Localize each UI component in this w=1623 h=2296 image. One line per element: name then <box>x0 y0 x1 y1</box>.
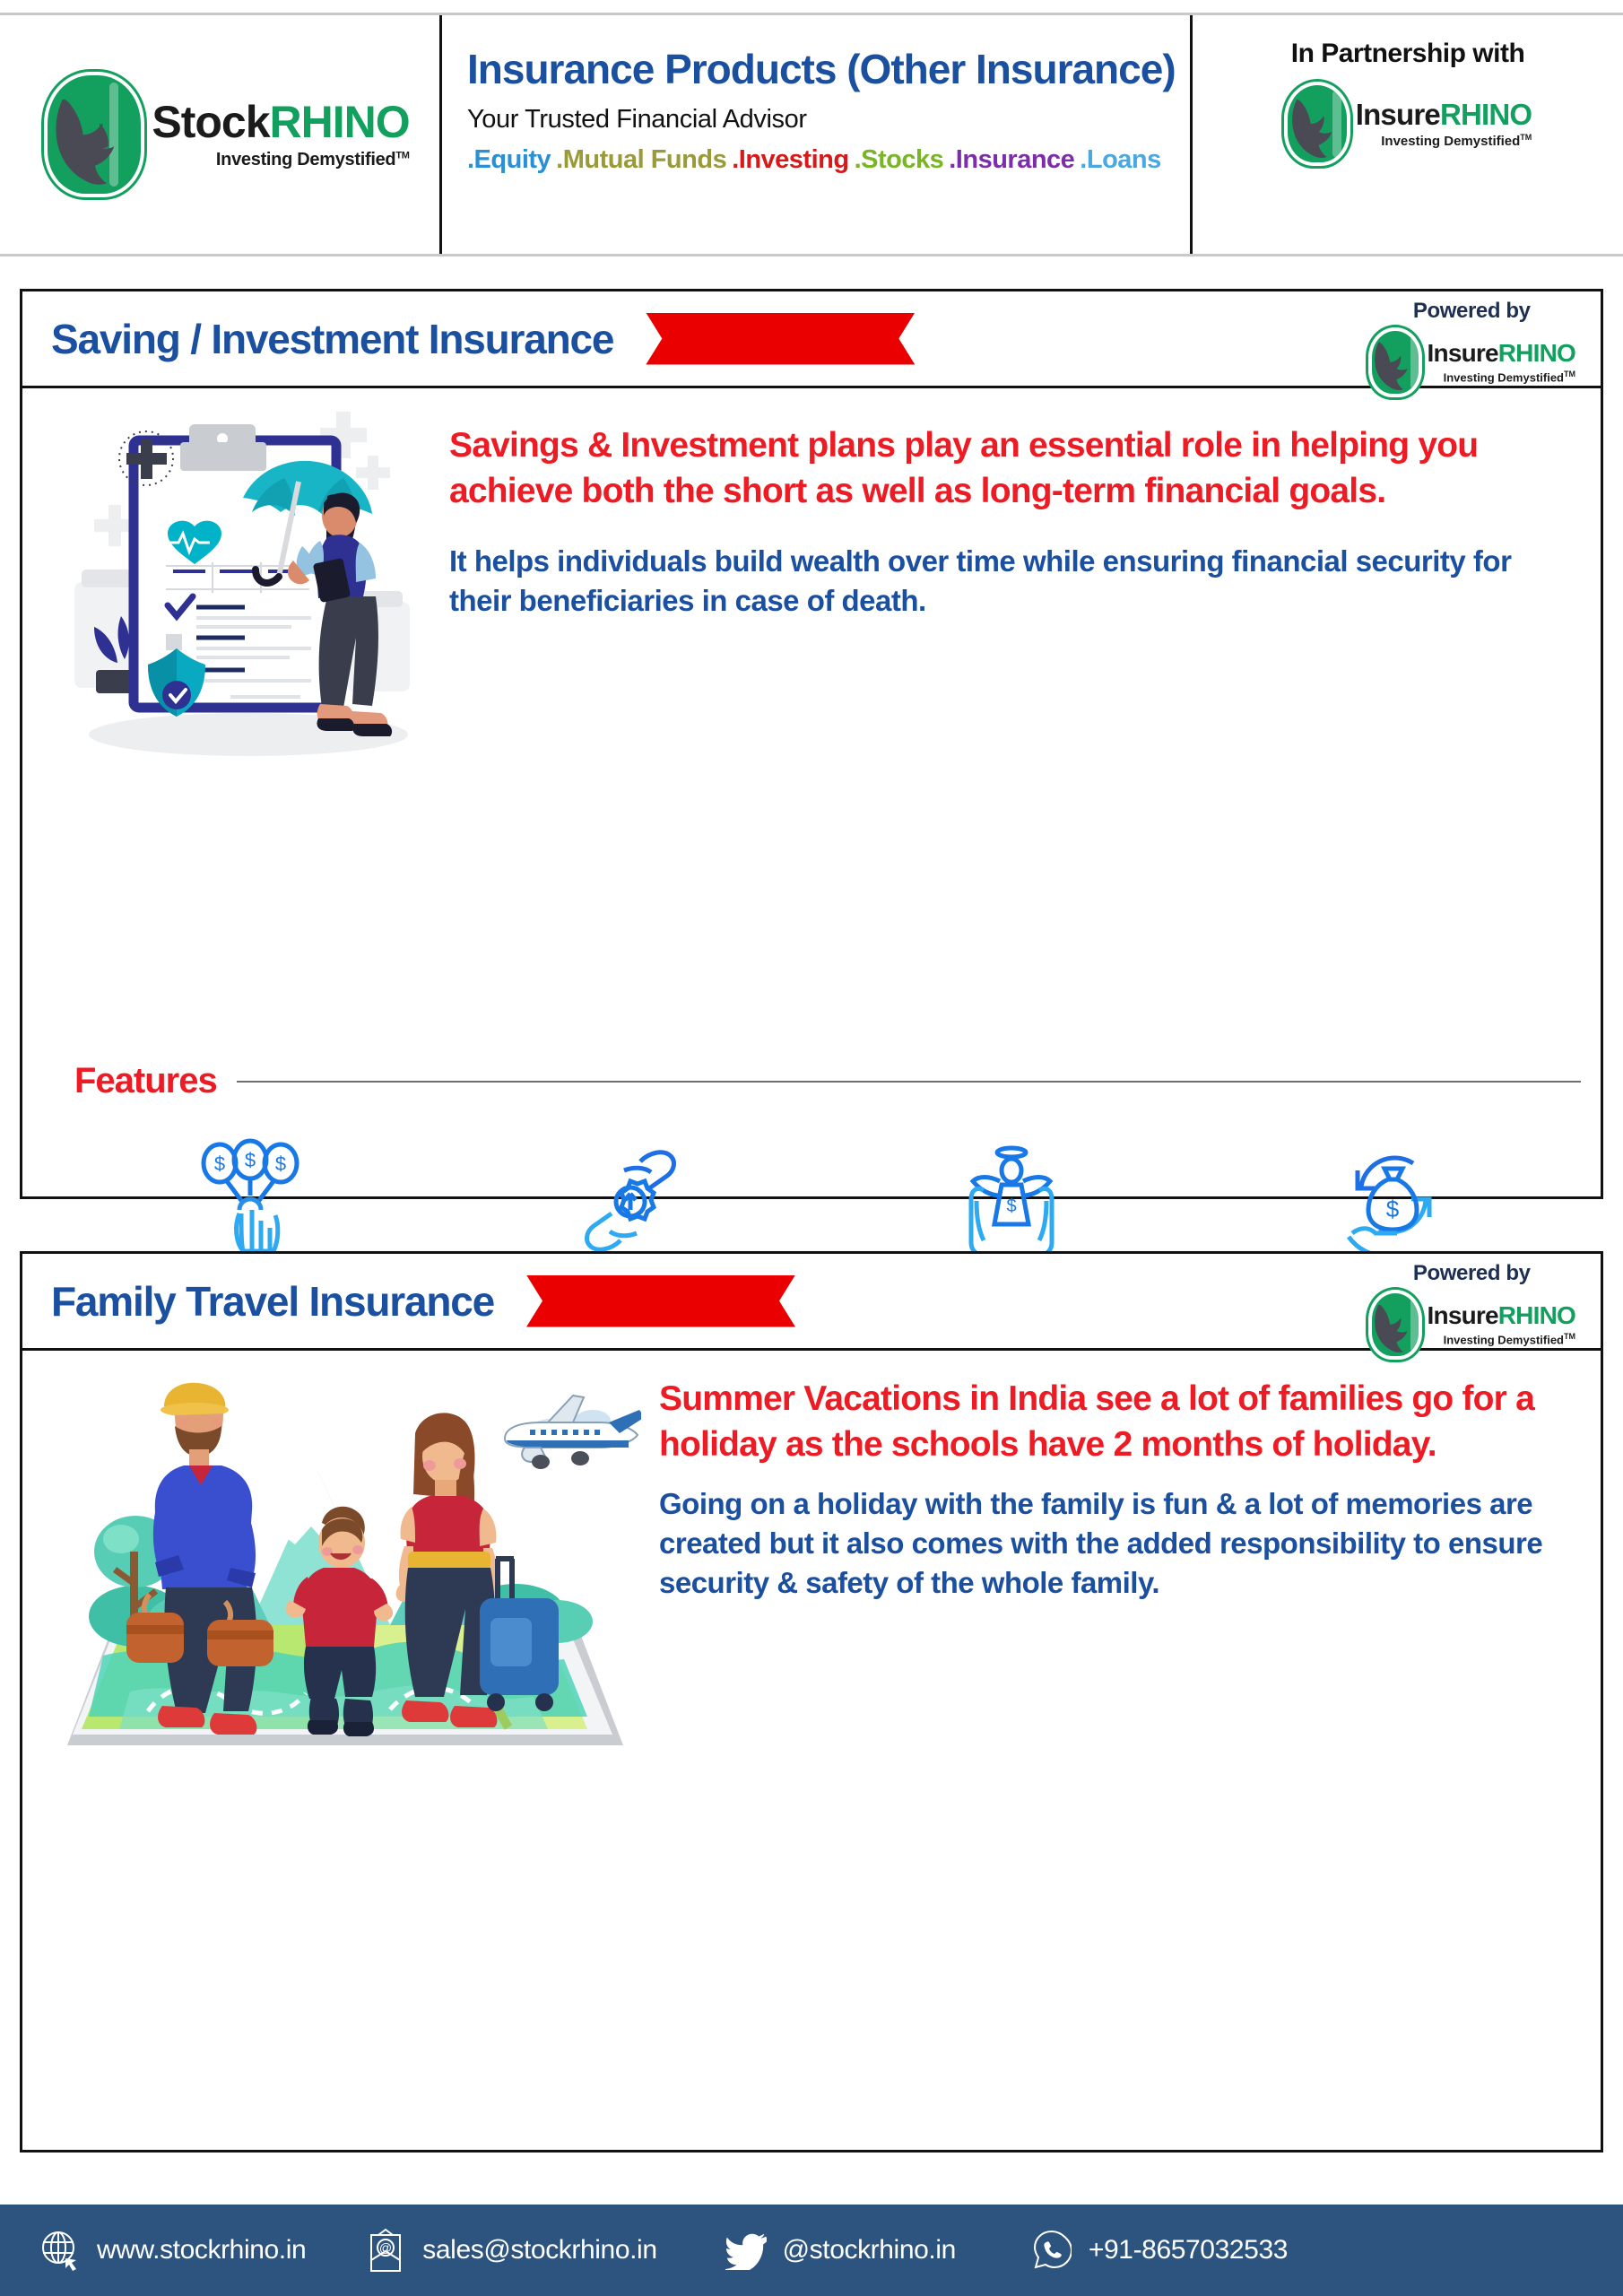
page-title: Insurance Products (Other Insurance) <box>467 48 1190 91</box>
divider <box>237 1081 1581 1083</box>
brand-name-accent: RHINO <box>270 97 410 147</box>
powered-wordmark: InsureRHINO <box>1428 341 1575 366</box>
powered-tagline: Investing DemystifiedTM <box>1444 1332 1575 1346</box>
service-tag-loans: .Loans <box>1080 145 1160 174</box>
section-title: Family Travel Insurance <box>51 1277 494 1326</box>
service-tag-investing: .Investing <box>732 145 848 174</box>
partnership-label: In Partnership with <box>1291 39 1525 69</box>
service-tag-equity: .Equity <box>467 145 551 174</box>
service-tag-stocks: .Stocks <box>855 145 944 174</box>
insurance-clipboard-umbrella-illustration <box>58 403 426 761</box>
brand-name-dark: Stock <box>152 97 269 147</box>
section-header: Family Travel Insurance Powered by Insur… <box>22 1254 1601 1351</box>
page-header: StockRHINO Investing DemystifiedTM Insur… <box>0 13 1623 257</box>
powered-by-block: Powered by InsureRHINO Investing Demysti… <box>1368 299 1575 397</box>
brand-tagline: Investing DemystifiedTM <box>216 150 410 170</box>
section-card-saving-investment: Saving / Investment Insurance Powered by… <box>20 289 1603 1199</box>
section-copy: Savings & Investment plans play an essen… <box>449 422 1561 621</box>
rhino-shield-icon <box>44 72 144 197</box>
powered-wordmark: InsureRHINO <box>1428 1303 1575 1328</box>
footer-twitter-text: @stockrhino.in <box>783 2235 956 2266</box>
powered-by-label: Powered by <box>1413 1261 1531 1286</box>
globe-icon <box>39 2229 81 2272</box>
rhino-shield-icon <box>1284 82 1350 166</box>
svg-text:$: $ <box>1006 1196 1016 1216</box>
rhino-glyph-icon <box>1371 338 1412 392</box>
section-copy: Summer Vacations in India see a lot of f… <box>659 1376 1574 1604</box>
partnership-block: In Partnership with InsureRHINO Investin… <box>1193 15 1623 254</box>
rhino-shield-icon <box>1368 1290 1422 1360</box>
infographic-page: StockRHINO Investing DemystifiedTM Insur… <box>0 0 1623 2296</box>
section-title: Saving / Investment Insurance <box>51 315 613 363</box>
header-title-block: Insurance Products (Other Insurance) You… <box>439 15 1193 254</box>
family-travel-map-airplane-illustration <box>49 1360 641 1754</box>
powered-by-block: Powered by InsureRHINO Investing Demysti… <box>1368 1261 1575 1360</box>
svg-text:$: $ <box>274 1152 285 1175</box>
section-lead-text: Savings & Investment plans play an essen… <box>449 422 1561 515</box>
header-subtitle: Your Trusted Financial Advisor <box>467 105 1190 135</box>
page-footer: www.stockrhino.in @ sales@stockrhino.in <box>0 2205 1623 2296</box>
svg-text:$: $ <box>213 1152 224 1175</box>
svg-text:$: $ <box>1385 1196 1399 1222</box>
insurerhino-logo[interactable]: InsureRHINO Investing DemystifiedTM <box>1368 327 1575 397</box>
email-envelope-icon: @ <box>365 2229 406 2272</box>
partner-tagline: Investing DemystifiedTM <box>1381 133 1532 149</box>
section-header: Saving / Investment Insurance Powered by… <box>22 291 1601 388</box>
service-tags: .Equity.Mutual Funds.Investing.Stocks.In… <box>467 145 1190 175</box>
footer-phone[interactable]: +91-8657032533 <box>1031 2229 1288 2272</box>
brand-wordmark: StockRHINO <box>152 100 409 144</box>
whatsapp-phone-icon <box>1031 2229 1072 2272</box>
footer-phone-text: +91-8657032533 <box>1089 2235 1288 2266</box>
rhino-shield-icon <box>1368 327 1422 397</box>
footer-website-text: www.stockrhino.in <box>97 2235 306 2266</box>
powered-tagline: Investing DemystifiedTM <box>1444 370 1575 384</box>
section-body-text: Going on a holiday with the family is fu… <box>659 1484 1574 1604</box>
footer-twitter[interactable]: @stockrhino.in <box>725 2229 956 2272</box>
insurerhino-logo[interactable]: InsureRHINO Investing DemystifiedTM <box>1284 82 1532 166</box>
service-tag-mutual-funds: .Mutual Funds <box>556 145 726 174</box>
twitter-bird-icon <box>725 2229 767 2272</box>
rhino-glyph-icon <box>1288 94 1338 161</box>
red-ribbon-decoration <box>526 1275 795 1327</box>
svg-text:$: $ <box>244 1149 255 1171</box>
features-heading: Features <box>74 1061 1581 1101</box>
section-card-family-travel: Family Travel Insurance Powered by Insur… <box>20 1251 1603 2152</box>
rhino-glyph-icon <box>49 91 123 188</box>
footer-email-text: sales@stockrhino.in <box>422 2235 656 2266</box>
svg-text:@: @ <box>379 2240 392 2255</box>
stockrhino-logo[interactable]: StockRHINO Investing DemystifiedTM <box>0 15 439 254</box>
rhino-glyph-icon <box>1371 1300 1412 1354</box>
footer-email[interactable]: @ sales@stockrhino.in <box>365 2229 656 2272</box>
insurerhino-logo[interactable]: InsureRHINO Investing DemystifiedTM <box>1368 1290 1575 1360</box>
powered-by-label: Powered by <box>1413 299 1531 324</box>
footer-website[interactable]: www.stockrhino.in <box>39 2229 306 2272</box>
service-tag-insurance: .Insurance <box>949 145 1074 174</box>
partner-wordmark: InsureRHINO <box>1356 100 1532 129</box>
section-lead-text: Summer Vacations in India see a lot of f… <box>659 1376 1574 1468</box>
red-ribbon-decoration <box>646 313 915 365</box>
features-title: Features <box>74 1061 217 1101</box>
section-body-text: It helps individuals build wealth over t… <box>449 542 1561 621</box>
